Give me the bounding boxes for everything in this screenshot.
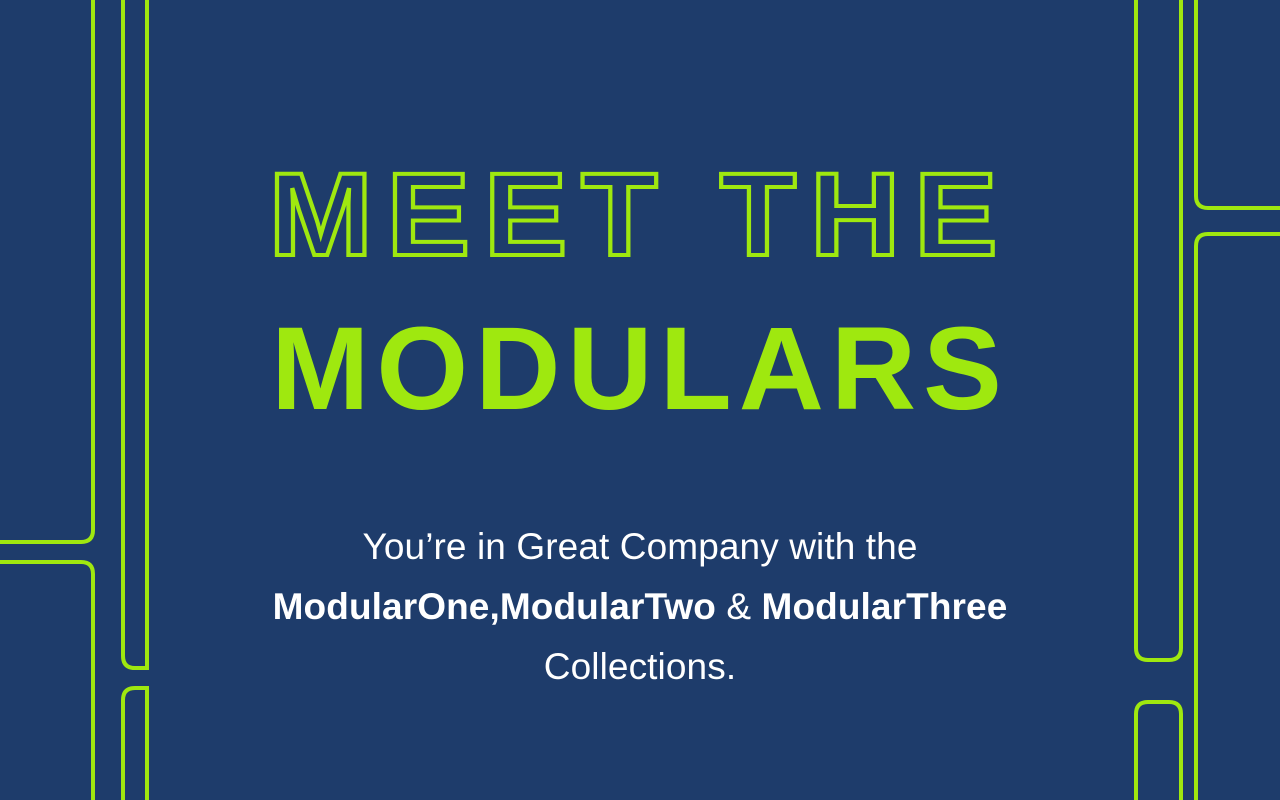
headline-outline: MEET THE bbox=[0, 156, 1280, 274]
brand-modular-one: ModularOne, bbox=[273, 586, 500, 627]
subhead-conjunction: & bbox=[716, 586, 762, 627]
headline-solid: MODULARS bbox=[0, 310, 1280, 428]
brand-modular-three: ModularThree bbox=[762, 586, 1008, 627]
hero-subheadline: You’re in Great Company with the Modular… bbox=[180, 517, 1100, 697]
hero-content: MEET THE MODULARS You’re in Great Compan… bbox=[0, 0, 1280, 800]
hero-banner: MEET THE MODULARS You’re in Great Compan… bbox=[0, 0, 1280, 800]
subhead-tail: Collections. bbox=[544, 646, 736, 687]
subhead-lead: You’re in Great Company with the bbox=[362, 526, 917, 567]
brand-modular-two: ModularTwo bbox=[500, 586, 716, 627]
